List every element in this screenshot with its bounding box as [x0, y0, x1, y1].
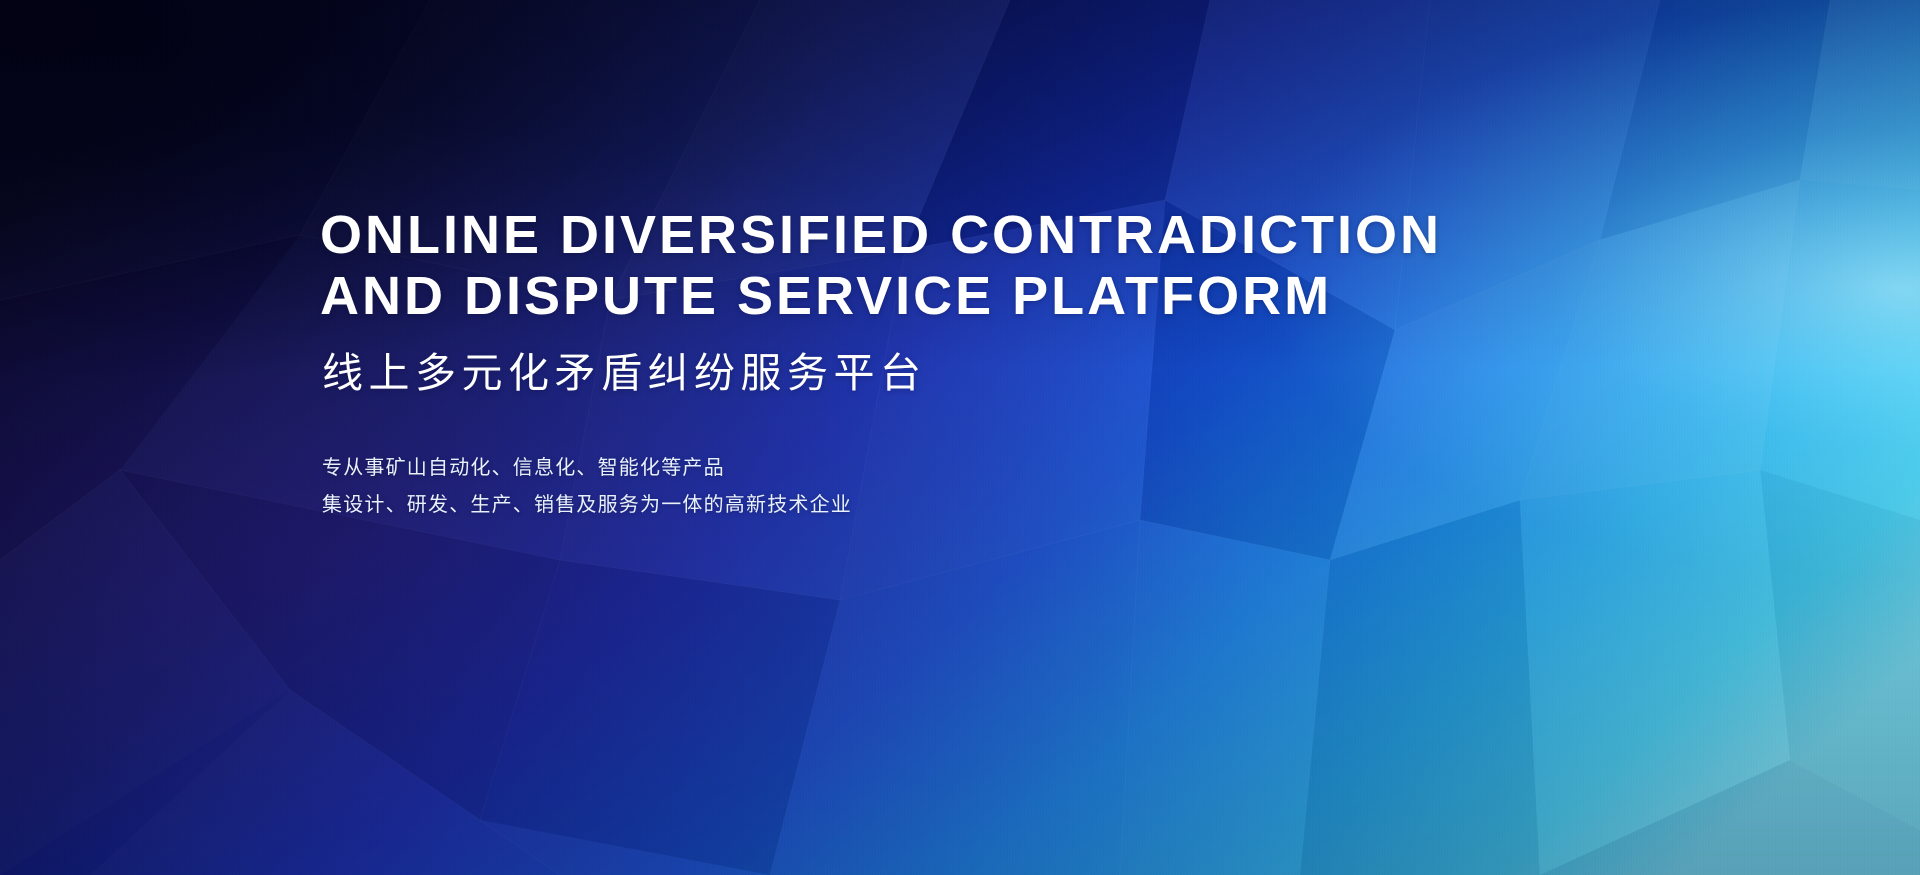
hero-banner: ONLINE DIVERSIFIED CONTRADICTION AND DIS…: [0, 0, 1920, 875]
banner-chinese-title: 线上多元化矛盾纠纷服务平台: [322, 347, 927, 399]
description-line-2: 集设计、研发、生产、销售及服务为一体的高新技术企业: [322, 487, 852, 524]
banner-content: ONLINE DIVERSIFIED CONTRADICTION AND DIS…: [320, 0, 1620, 875]
english-title-line-1: ONLINE DIVERSIFIED CONTRADICTION: [320, 205, 1610, 266]
banner-english-title: ONLINE DIVERSIFIED CONTRADICTION AND DIS…: [320, 205, 1610, 327]
english-title-line-2: AND DISPUTE SERVICE PLATFORM: [320, 266, 1610, 327]
banner-description: 专从事矿山自动化、信息化、智能化等产品 集设计、研发、生产、销售及服务为一体的高…: [322, 450, 852, 524]
description-line-1: 专从事矿山自动化、信息化、智能化等产品: [322, 450, 852, 487]
